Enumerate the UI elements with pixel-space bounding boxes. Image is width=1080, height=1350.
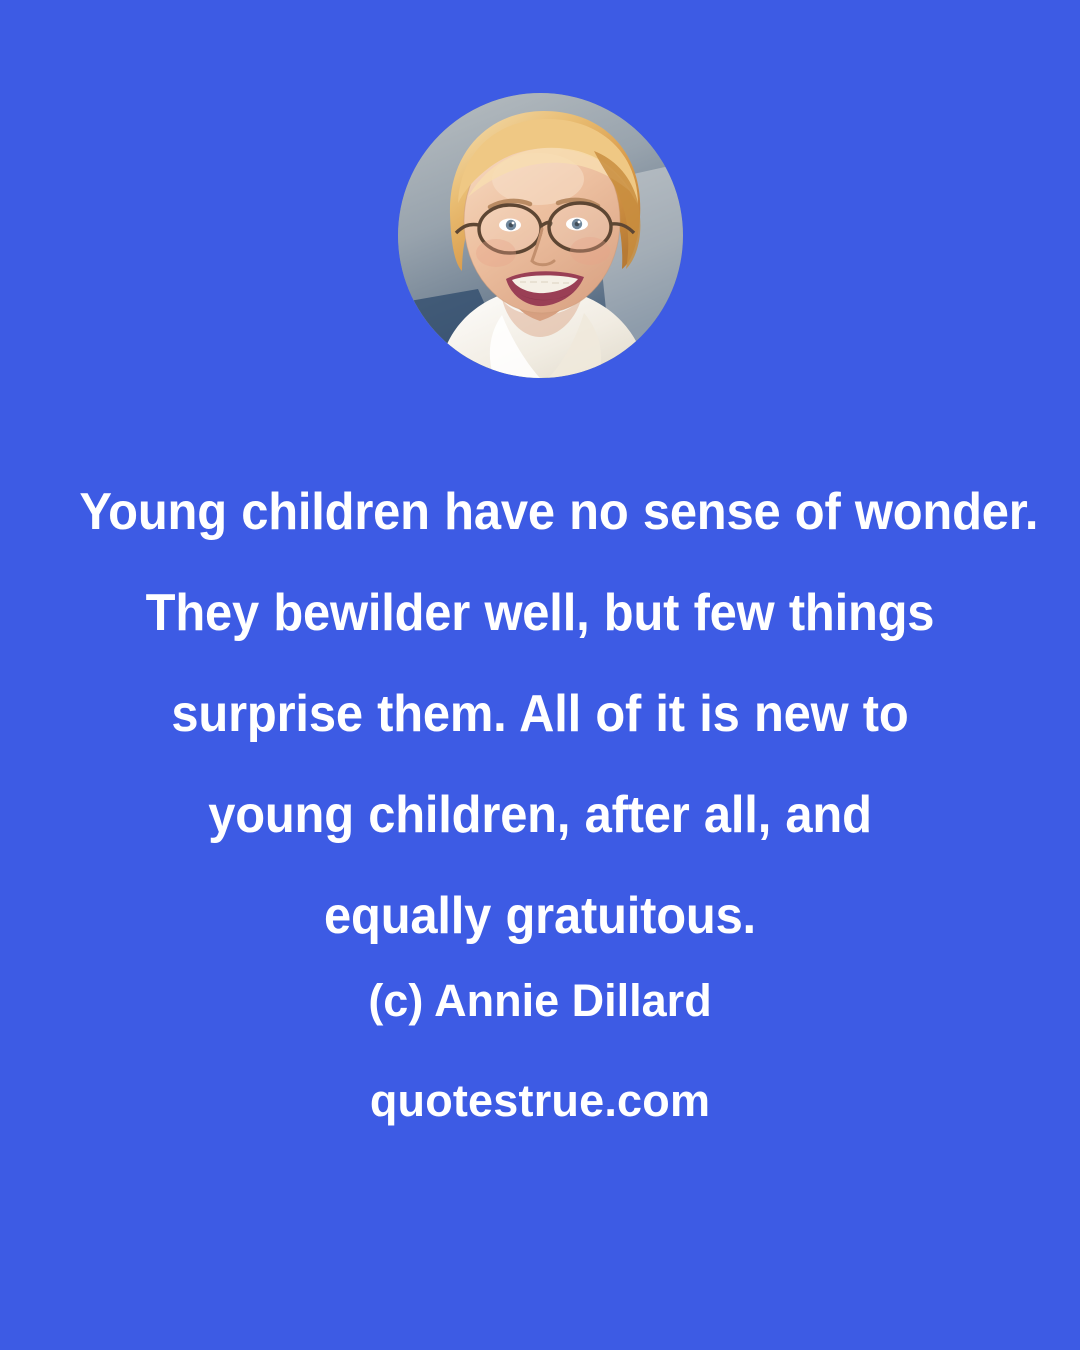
avatar-container bbox=[0, 93, 1080, 378]
quote-line: young children, after all, and bbox=[79, 765, 1000, 866]
quote-line: They bewilder well, but few things bbox=[79, 563, 1000, 664]
source-website: quotestrue.com bbox=[0, 1072, 1080, 1130]
quote-line: surprise them. All of it is new to bbox=[79, 664, 1000, 765]
author-portrait-icon bbox=[398, 93, 683, 378]
quote-line: equally gratuitous. bbox=[79, 866, 1000, 967]
quote-line: Young children have no sense of wonder. bbox=[79, 462, 1000, 563]
quote-text: Young children have no sense of wonder. … bbox=[79, 462, 1000, 967]
avatar bbox=[398, 93, 683, 378]
quote-attribution: (c) Annie Dillard bbox=[0, 972, 1080, 1030]
quote-card: Young children have no sense of wonder. … bbox=[0, 0, 1080, 1350]
